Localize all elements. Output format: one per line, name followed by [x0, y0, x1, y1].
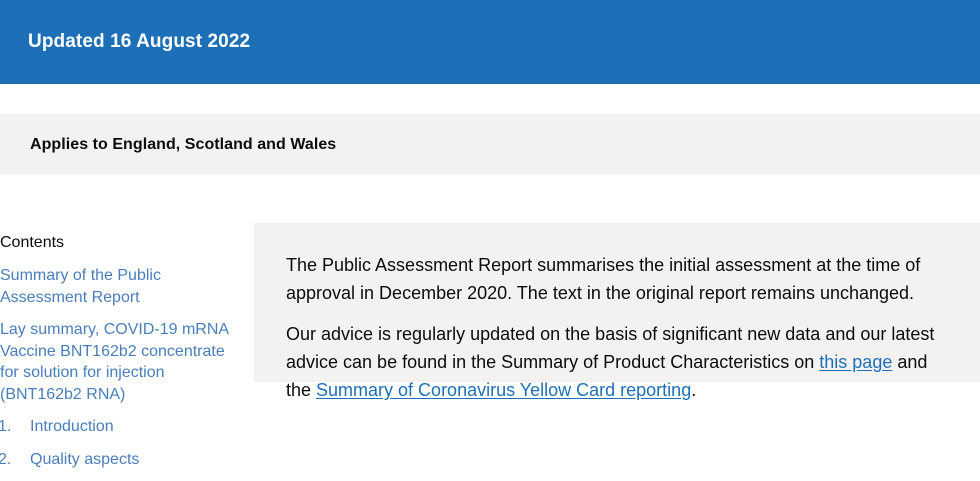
updated-date-label: Updated 16 August 2022 [28, 31, 250, 54]
contents-item-label: Introduction [30, 416, 114, 438]
applies-to-band: Applies to England, Scotland and Wales [0, 114, 980, 175]
list-item: 1. Introduction [0, 416, 240, 438]
contents-item-number: 1. [0, 416, 30, 438]
contents-item-label: Quality aspects [30, 449, 139, 471]
contents-link-quality-aspects[interactable]: 2. Quality aspects [0, 449, 240, 471]
advice-paragraph: Our advice is regularly updated on the b… [286, 320, 950, 404]
contents-link-summary-public-assessment-report[interactable]: Summary of the Public Assessment Report [0, 265, 240, 308]
advice-text-part-3: . [691, 380, 696, 400]
list-item: Lay summary, COVID-19 mRNA Vaccine BNT16… [0, 319, 240, 405]
page-body: Contents Summary of the Public Assessmen… [0, 175, 980, 382]
contents-sidebar: Contents Summary of the Public Assessmen… [0, 233, 240, 481]
main-content-panel: The Public Assessment Report summarises … [254, 223, 980, 382]
applies-to-label: Applies to England, Scotland and Wales [30, 136, 336, 154]
this-page-link[interactable]: this page [819, 352, 892, 372]
list-item: Summary of the Public Assessment Report [0, 265, 240, 308]
intro-paragraph: The Public Assessment Report summarises … [286, 251, 950, 307]
contents-link-introduction[interactable]: 1. Introduction [0, 416, 240, 438]
contents-heading: Contents [0, 233, 240, 253]
contents-item-number: 2. [0, 449, 30, 471]
list-item: 2. Quality aspects [0, 449, 240, 471]
contents-link-lay-summary[interactable]: Lay summary, COVID-19 mRNA Vaccine BNT16… [0, 319, 240, 405]
contents-list: Summary of the Public Assessment Report … [0, 265, 240, 470]
yellow-card-reporting-link[interactable]: Summary of Coronavirus Yellow Card repor… [316, 380, 691, 400]
updated-banner: Updated 16 August 2022 [0, 0, 980, 84]
